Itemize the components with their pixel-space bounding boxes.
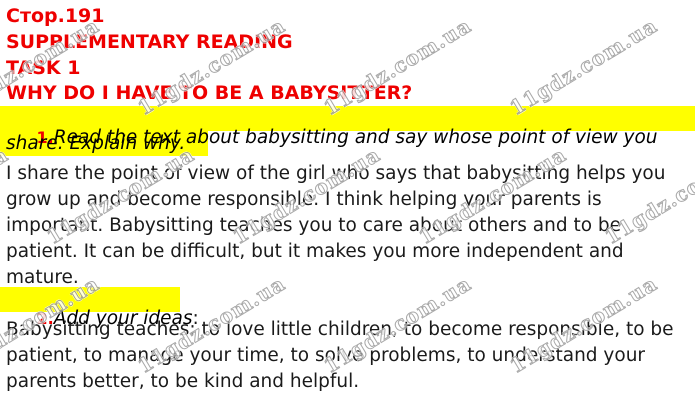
page-label: Стор.191: [6, 5, 105, 27]
exercise-1-answer-line-4: patient. It can be difficult, but it mak…: [6, 241, 624, 262]
exercise-1-answer-line-2: grow up and become responsible. I think …: [6, 189, 602, 210]
exercise-2-answer-line-2: patient, to manage your time, to solve p…: [6, 345, 645, 366]
page-canvas: Стор.191 SUPPLEMENTARY READING TASK 1 WH…: [0, 0, 695, 401]
task-title: TASK 1: [6, 57, 80, 79]
exercise-1-answer-line-1: I share the point of view of the girl wh…: [6, 163, 665, 184]
exercise-1-answer-line-5: mature.: [6, 267, 79, 288]
watermark-text: 11gdz.com.ua: [506, 13, 662, 120]
exercise-2-answer-line-1: Babysitting teaches: to love little chil…: [6, 319, 674, 340]
watermark-text: 11gdz.com.ua: [692, 13, 695, 120]
watermark-text: 11gdz.com.ua: [692, 271, 695, 378]
exercise-2-answer-line-3: parents better, to be kind and helpful.: [6, 371, 359, 392]
question-title: WHY DO I HAVE TO BE A BABYSITTER?: [6, 82, 412, 104]
exercise-1-answer-line-3: important. Babysitting teaches you to ca…: [6, 215, 621, 236]
section-title: SUPPLEMENTARY READING: [6, 31, 293, 53]
exercise-1-instruction-line-2: share. Explain why.: [6, 133, 185, 154]
